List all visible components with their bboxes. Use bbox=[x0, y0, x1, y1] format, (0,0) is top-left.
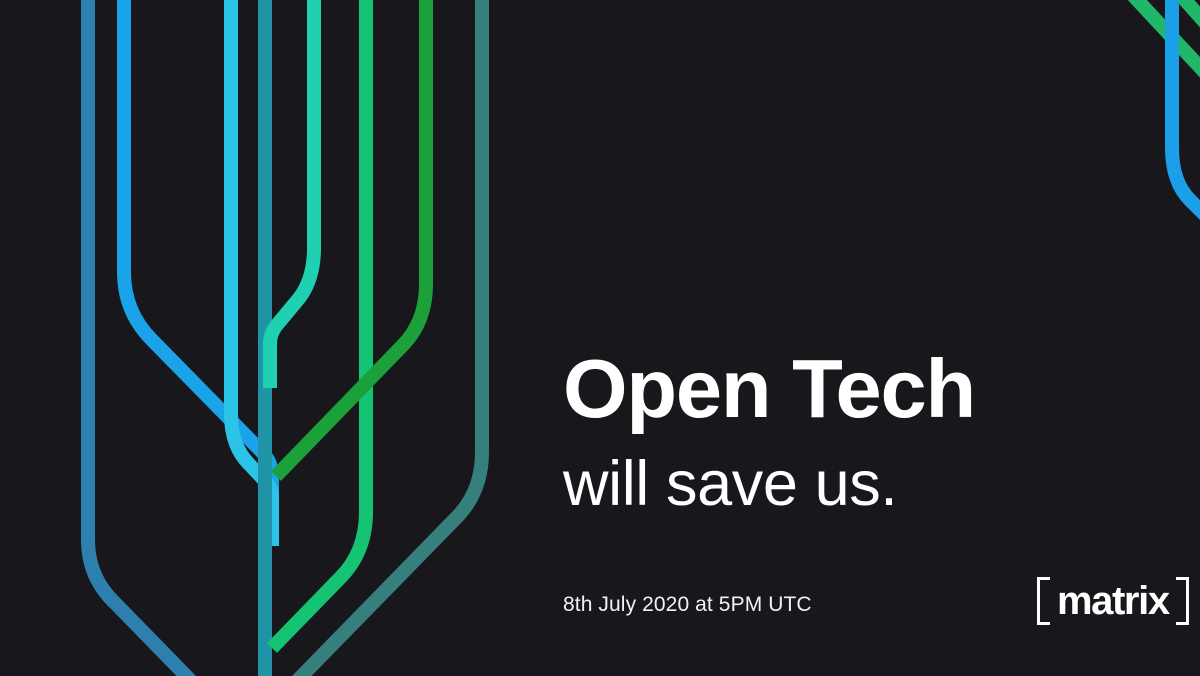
bracket-left-icon bbox=[1037, 577, 1050, 625]
bracket-right-icon bbox=[1176, 577, 1189, 625]
matrix-wordmark: matrix bbox=[1050, 581, 1176, 621]
event-date: 8th July 2020 at 5PM UTC bbox=[563, 593, 812, 617]
headline-block: Open Tech will save us. bbox=[563, 348, 1123, 516]
headline-main: Open Tech bbox=[563, 348, 1123, 429]
headline-sub: will save us. bbox=[563, 453, 1123, 516]
poster-content: Open Tech will save us. 8th July 2020 at… bbox=[0, 0, 1200, 676]
poster-canvas: Open Tech will save us. 8th July 2020 at… bbox=[0, 0, 1200, 676]
matrix-logo: matrix bbox=[1037, 576, 1189, 626]
